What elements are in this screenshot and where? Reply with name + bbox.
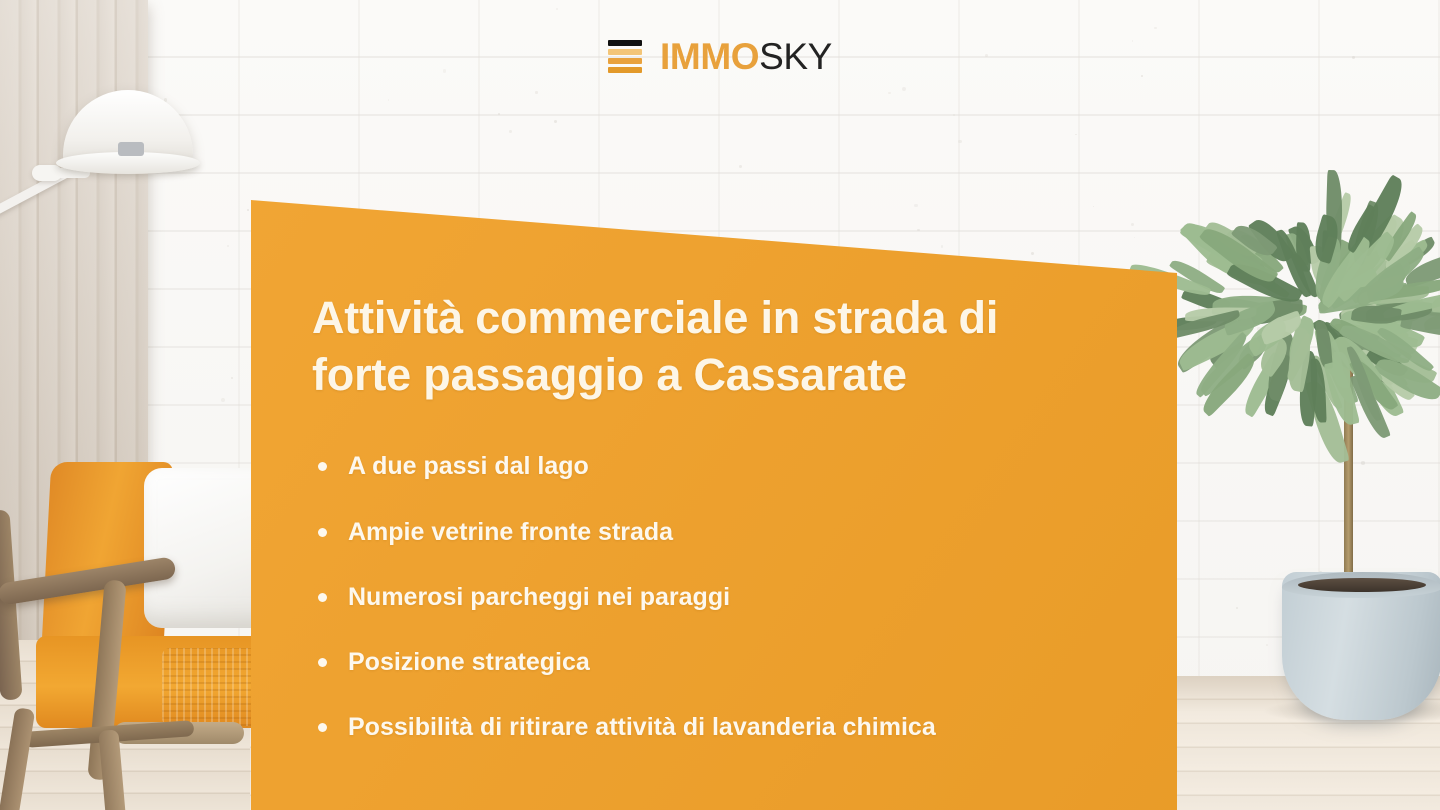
wall-speck (1154, 27, 1157, 30)
wall-speck (888, 92, 890, 94)
lamp-bulb (118, 142, 144, 156)
potted-plant (1190, 120, 1440, 720)
wall-speck (739, 165, 742, 168)
chair-leg-rear (0, 707, 35, 810)
chair-back-post (0, 509, 23, 700)
logo-word-sky: SKY (759, 38, 832, 75)
wall-speck (1031, 252, 1035, 256)
logo-word-immo: IMMO (660, 38, 759, 75)
feature-item: Possibilità di ritirare attività di lava… (312, 712, 1112, 743)
wall-speck (221, 398, 225, 402)
wall-speck (953, 114, 955, 116)
wall-speck (509, 130, 512, 133)
wall-speck (902, 87, 906, 91)
logo-bar-2 (608, 49, 642, 55)
logo-bar-4 (608, 67, 642, 73)
logo-wordmark: IMMOSKY (660, 38, 832, 75)
slide-canvas: IMMOSKY Attività commerciale in strada d… (0, 0, 1440, 810)
wall-speck (1141, 75, 1143, 77)
wall-speck (914, 204, 917, 207)
armchair (0, 440, 284, 810)
feature-item: Numerosi parcheggi nei paraggi (312, 582, 1112, 613)
listing-title: Attività commerciale in strada di forte … (312, 290, 1052, 403)
logo-bar-3 (608, 58, 642, 64)
wall-speck (388, 99, 389, 100)
wall-speck (535, 91, 537, 93)
feature-item: A due passi dal lago (312, 451, 1112, 482)
panel-content: Attività commerciale in strada di forte … (312, 290, 1112, 744)
pot-soil (1298, 578, 1426, 592)
feature-item: Posizione strategica (312, 647, 1112, 678)
wall-speck (917, 229, 919, 231)
wall-speck (1093, 206, 1094, 207)
wall-speck (556, 8, 558, 10)
feature-list: A due passi dal lagoAmpie vetrine fronte… (312, 451, 1112, 743)
immosky-logo[interactable]: IMMOSKY (0, 38, 1440, 75)
wall-speck (1134, 237, 1135, 238)
wall-speck (247, 209, 249, 211)
wall-speck (231, 377, 233, 379)
wall-speck (1131, 223, 1134, 226)
wall-speck (941, 245, 944, 248)
wall-speck (958, 140, 962, 144)
logo-bar-1 (608, 40, 642, 46)
immosky-bars-icon (608, 40, 642, 73)
wall-speck (554, 120, 557, 123)
wall-speck (498, 113, 499, 114)
wall-speck (1075, 134, 1076, 135)
wall-speck (227, 245, 229, 247)
feature-item: Ampie vetrine fronte strada (312, 517, 1112, 548)
